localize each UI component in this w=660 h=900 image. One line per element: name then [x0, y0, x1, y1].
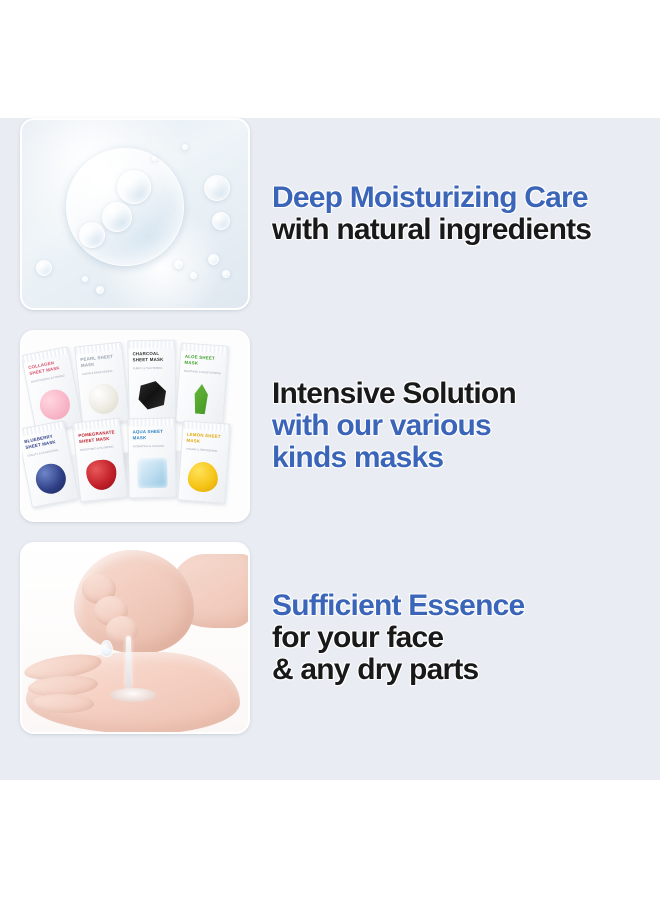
headline-line: kinds masks: [272, 442, 660, 474]
bubble-small-icon: [36, 260, 52, 276]
essence-stream: [126, 636, 131, 688]
headline-line: with natural ingredients: [272, 214, 660, 246]
packet-ingredient-icon: [87, 382, 120, 415]
headline-line: Deep Moisturizing Care: [272, 182, 660, 214]
packet-title: POMEGRANATE SHEET MASK: [78, 429, 117, 446]
bubble-small-icon: [212, 212, 230, 230]
feature-row-deep-moisturizing: Deep Moisturizing Care with natural ingr…: [0, 118, 660, 310]
packet-seal: [128, 341, 174, 349]
bubble-tiny-icon: [222, 270, 230, 278]
feature-rows: Deep Moisturizing Care with natural ingr…: [0, 118, 660, 754]
feature-copy-sufficient-essence: Sufficient Essence for your face & any d…: [272, 590, 660, 685]
packet-ingredient-icon: [187, 461, 219, 493]
packet-ingredient-icon: [185, 383, 217, 415]
headline-line: with our various: [272, 410, 660, 442]
packet-subtitle: HYDRATING & COOLING: [133, 445, 171, 449]
hands-illustration: [22, 544, 248, 732]
packet-title: LEMON SHEET MASK: [186, 432, 225, 447]
bubble-tiny-icon: [152, 156, 157, 161]
bubble-inner-icon: [102, 202, 132, 232]
packet-subtitle: PURIFY & TIGHTENING: [133, 367, 171, 371]
headline-line: Intensive Solution: [272, 378, 660, 410]
packet-ingredient-icon: [137, 380, 168, 411]
bubble-inner-icon: [117, 170, 151, 204]
packet-seal: [181, 343, 227, 353]
packet-seal: [128, 419, 174, 427]
packet-subtitle: VITAMIN & REFRESHING: [186, 448, 224, 454]
mask-packet-pearl: PEARL SHEET MASKCLEAR & BRIGHTENING: [74, 342, 130, 427]
bubbles-illustration: [22, 120, 248, 308]
water-bubbles-photo: [20, 118, 250, 310]
bubble-tiny-icon: [174, 260, 183, 269]
headline-line: for your face: [272, 622, 660, 654]
mask-packet-pomegranate: POMEGRANATE SHEET MASKSMOOTHING & PLUMPI…: [72, 418, 128, 503]
bubble-inner-icon: [79, 222, 105, 248]
packet-ingredient-icon: [33, 461, 68, 496]
essence-pool: [110, 688, 156, 702]
product-feature-banner: Deep Moisturizing Care with natural ingr…: [0, 0, 660, 900]
essence-droplet-icon: [100, 640, 113, 657]
packet-ingredient-icon: [37, 387, 72, 422]
bubble-small-icon: [204, 175, 230, 201]
packet-title: ALOE SHEET MASK: [184, 354, 223, 369]
feature-row-sufficient-essence: Sufficient Essence for your face & any d…: [0, 542, 660, 734]
mask-packet-charcoal: CHARCOAL SHEET MASKPURIFY & TIGHTENING: [127, 340, 176, 421]
packet-subtitle: SMOOTHING & PLUMPING: [80, 445, 118, 453]
sheet-masks-photo: COLLAGEN SHEET MASKMOISTURIZING & FIRMIN…: [20, 330, 250, 522]
feature-row-intensive-solution: COLLAGEN SHEET MASKMOISTURIZING & FIRMIN…: [0, 330, 660, 522]
packet-ingredient-icon: [85, 458, 118, 491]
essence-hands-photo: [20, 542, 250, 734]
bubble-tiny-icon: [208, 254, 219, 265]
feature-copy-intensive-solution: Intensive Solution with our various kind…: [272, 378, 660, 473]
mask-packet-collagen: COLLAGEN SHEET MASKMOISTURIZING & FIRMIN…: [21, 346, 83, 434]
packet-ingredient-icon: [137, 458, 168, 489]
bubble-tiny-icon: [182, 144, 188, 150]
mask-packet-aqua: AQUA SHEET MASKHYDRATING & COOLING: [127, 418, 176, 499]
packet-subtitle: SOOTHING & MOISTURIZING: [184, 370, 222, 376]
packet-title: PEARL SHEET MASK: [80, 353, 119, 370]
headline-line: Sufficient Essence: [272, 590, 660, 622]
bubble-tiny-icon: [190, 272, 197, 279]
packet-subtitle: CLEAR & BRIGHTENING: [82, 369, 120, 377]
packet-seal: [183, 421, 229, 431]
knuckle-shape: [106, 616, 138, 644]
mask-packet-aloe: ALOE SHEET MASKSOOTHING & MOISTURIZING: [175, 342, 228, 425]
feature-copy-deep-moisturizing: Deep Moisturizing Care with natural ingr…: [272, 182, 660, 246]
mask-packet-lemon: LEMON SHEET MASKVITAMIN & REFRESHING: [177, 420, 230, 503]
bubble-tiny-icon: [96, 286, 104, 294]
packet-title: AQUA SHEET MASK: [132, 429, 170, 442]
headline-line: & any dry parts: [272, 654, 660, 686]
packet-title: CHARCOAL SHEET MASK: [132, 351, 170, 364]
mask-packet-blueberry: BLUEBERRY SHEET MASKVITALITY & NOURISHIN…: [20, 420, 79, 508]
bubble-tiny-icon: [82, 276, 88, 282]
mask-packets-illustration: COLLAGEN SHEET MASKMOISTURIZING & FIRMIN…: [22, 332, 248, 520]
